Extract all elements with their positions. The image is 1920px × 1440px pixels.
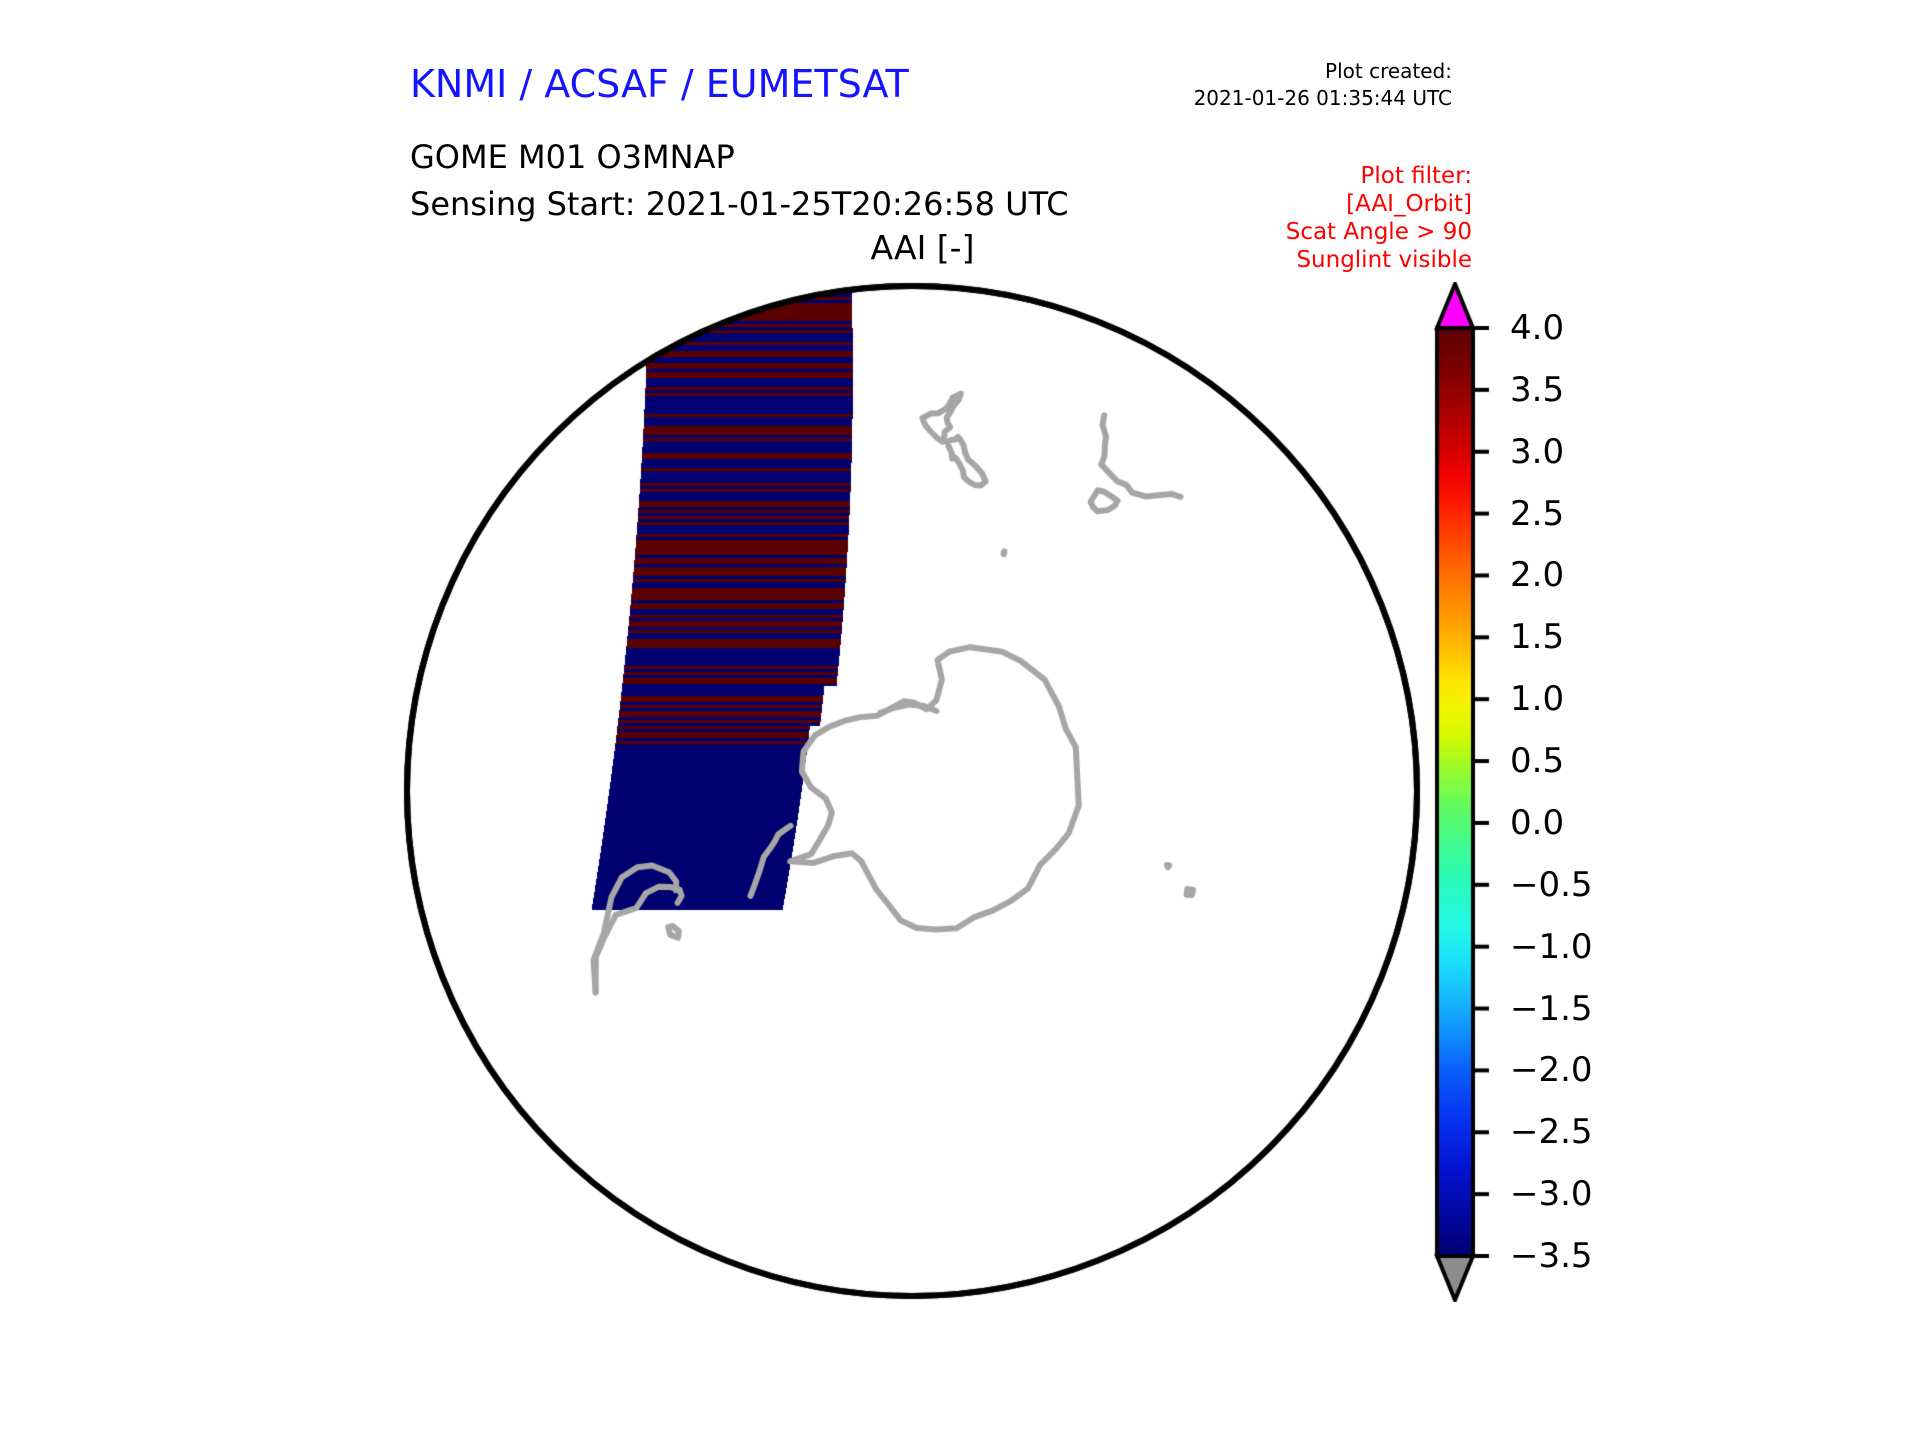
colorbar-tick-label: −3.5 — [1510, 1236, 1593, 1276]
colorbar-tick-label: 0.0 — [1510, 803, 1564, 843]
plot-created-block: Plot created: 2021-01-26 01:35:44 UTC — [1194, 58, 1452, 112]
colorbar-tick-label: 3.5 — [1510, 370, 1564, 410]
colorbar-tick-label: −0.5 — [1510, 865, 1593, 905]
plot-created-time: 2021-01-26 01:35:44 UTC — [1194, 85, 1452, 112]
filter-line-1: [AAI_Orbit] — [1286, 190, 1472, 218]
agency-line: KNMI / ACSAF / EUMETSAT — [410, 62, 909, 106]
colorbar: 4.03.53.02.52.01.51.00.50.0−0.5−1.0−1.5−… — [1432, 282, 1732, 1302]
colorbar-tick-label: −2.5 — [1510, 1112, 1593, 1152]
dataset-title: GOME M01 O3MNAP — [410, 138, 735, 176]
colorbar-tick-label: 1.0 — [1510, 679, 1564, 719]
plot-created-label: Plot created: — [1194, 58, 1452, 85]
colorbar-gradient — [1432, 282, 1492, 1302]
filter-line-0: Plot filter: — [1286, 162, 1472, 190]
colorbar-tick-label: 4.0 — [1510, 308, 1564, 348]
colorbar-tick-label: −3.0 — [1510, 1174, 1593, 1214]
polar-map-plot — [380, 255, 1450, 1330]
colorbar-tick-label: 3.0 — [1510, 432, 1564, 472]
colorbar-tick-label: 0.5 — [1510, 741, 1564, 781]
colorbar-tick-label: 1.5 — [1510, 617, 1564, 657]
colorbar-tick-label: 2.5 — [1510, 494, 1564, 534]
colorbar-tick-label: −1.5 — [1510, 989, 1593, 1029]
colorbar-tick-label: −1.0 — [1510, 927, 1593, 967]
sensing-start-label: Sensing Start: 2021-01-25T20:26:58 UTC — [410, 185, 1069, 223]
plot-page: KNMI / ACSAF / EUMETSAT GOME M01 O3MNAP … — [0, 0, 1920, 1440]
colorbar-tick-label: 2.0 — [1510, 555, 1564, 595]
colorbar-tick-label: −2.0 — [1510, 1050, 1593, 1090]
filter-line-2: Scat Angle > 90 — [1286, 218, 1472, 246]
